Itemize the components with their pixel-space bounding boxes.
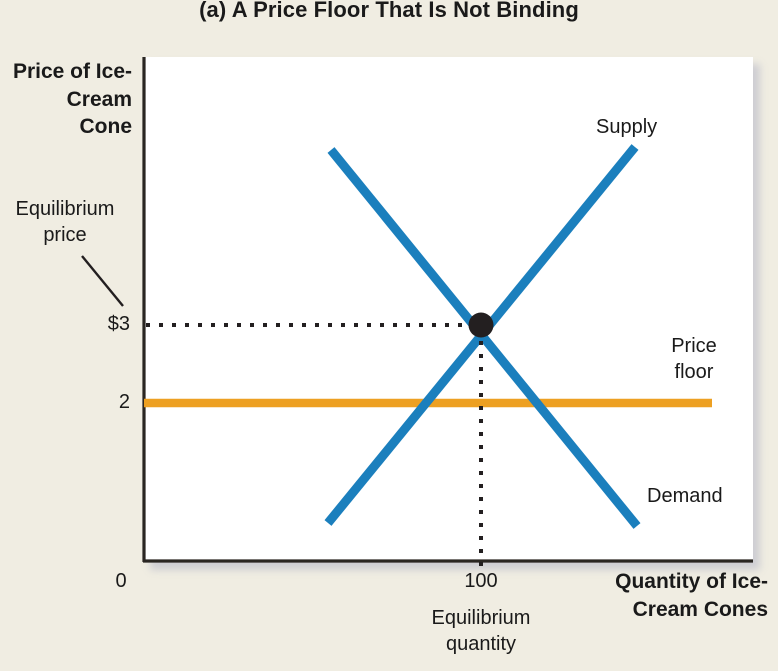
equilibrium-quantity-annotation: Equilibrium quantity: [398, 605, 564, 658]
x-tick-label-100: 100: [438, 568, 524, 594]
equilibrium-price-annotation: Equilibrium price: [0, 196, 132, 249]
price-floor-label: Price floor: [652, 333, 736, 386]
y-tick-label-3: $3: [60, 311, 130, 337]
supply-curve-label: Supply: [596, 114, 692, 140]
equilibrium-point-dot: [469, 313, 494, 338]
price-floor-chart-figure: (a) A Price Floor That Is Not Binding Pr…: [0, 0, 778, 671]
demand-curve-label: Demand: [647, 483, 757, 509]
y-tick-label-2: 2: [60, 389, 130, 415]
x-tick-label-0: 0: [108, 568, 134, 594]
y-axis-title: Price of Ice-Cream Cone: [10, 58, 132, 141]
equilibrium-price-pointer-line: [82, 256, 123, 306]
x-axis-title: Quantity of Ice-Cream Cones: [600, 568, 768, 623]
